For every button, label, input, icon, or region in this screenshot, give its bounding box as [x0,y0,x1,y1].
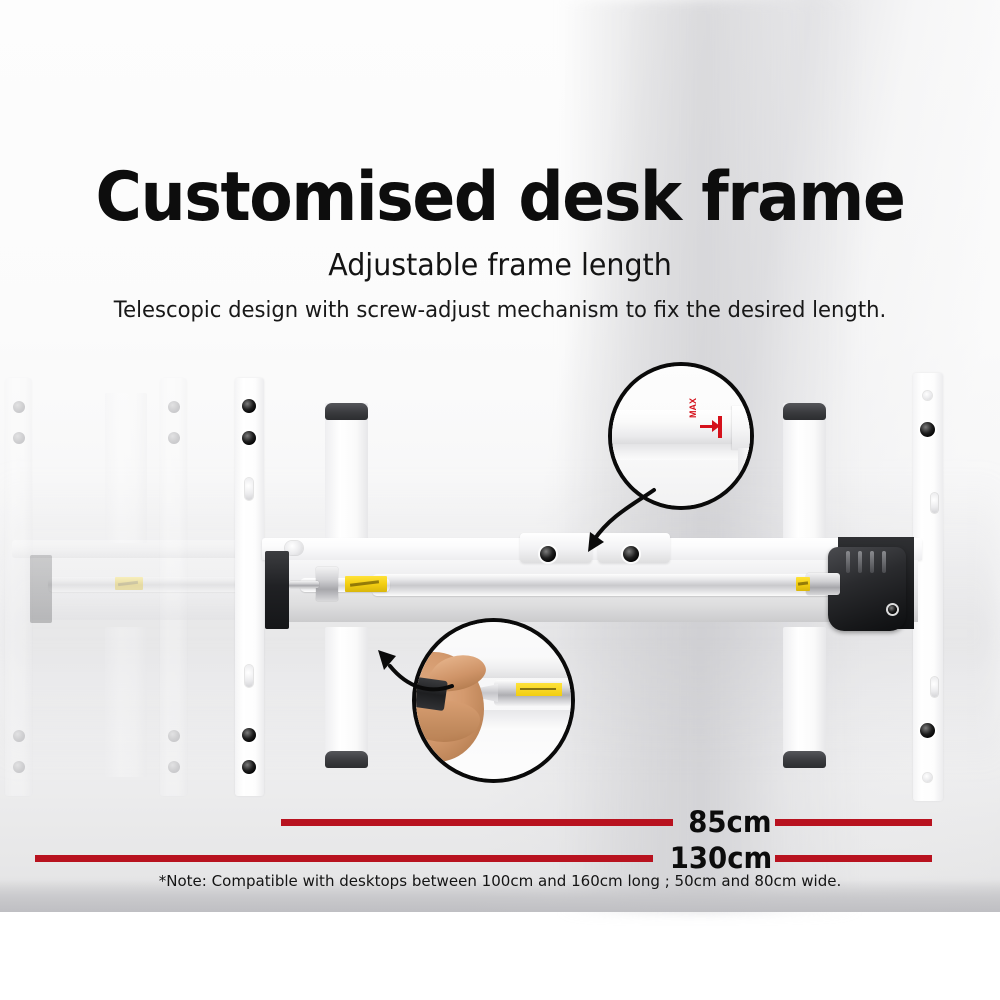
screw-icon [168,401,180,413]
screw-icon [13,401,25,413]
tube-warning-label [345,576,387,592]
foot-plate-bottom-right [783,627,826,767]
callout-arrow-bottom [352,608,462,698]
motor-warning-label [796,577,810,591]
warning-label-ghost [115,577,143,590]
max-stop-bar [718,416,722,438]
bracket-slot-right-lower [931,677,938,697]
infographic-page: Customised desk frame Adjustable frame l… [0,0,1000,1000]
foot-cap-top-right [783,403,826,420]
screw-icon [168,432,180,444]
screw-icon [242,399,256,413]
adjust-screw-shaft [289,581,319,588]
foot-cap-top-left [325,403,368,420]
dimension-line-85-right [775,819,932,826]
screw-icon [242,760,256,774]
screw-icon [13,761,25,773]
dimension-line-130-right [775,855,932,862]
dimension-line-85-left [281,819,673,826]
max-marker-group: MAX [688,414,722,440]
motor-fin [870,551,874,573]
bracket-hole-top [923,391,932,400]
dimension-line-130-left [35,855,653,862]
motor-fin [858,551,862,573]
callout-arrow-top [548,482,658,562]
foot-plate-ghost-2 [105,627,147,777]
page-tagline: Telescopic design with screw-adjust mech… [20,296,980,326]
foot-plate-ghost-1 [105,393,147,543]
max-marker-text: MAX [688,398,698,418]
screw-icon [888,605,897,614]
motor-fin [882,551,886,573]
screw-icon [168,730,180,742]
left-end-bracket [265,551,289,629]
bracket-slot-upper [245,478,253,500]
screw-icon [920,422,935,437]
screw-icon [13,432,25,444]
foot-plate-top-left [325,403,368,543]
adjust-nut [316,567,338,601]
compatibility-note: *Note: Compatible with desktops between … [15,872,985,890]
screw-icon [168,761,180,773]
bracket-hole-bottom [923,773,932,782]
screw-icon [242,431,256,445]
screw-icon [920,723,935,738]
screw-icon [13,730,25,742]
screw-icon [242,728,256,742]
bracket-slot-lower [245,665,253,687]
page-title: Customised desk frame [35,160,965,236]
dimension-label-130: 130cm [670,844,773,873]
bracket-slot-right-upper [931,493,938,513]
end-bracket-ghost [30,555,52,623]
motor-output-collar [806,573,840,595]
callout-warning-label [516,683,562,696]
telescopic-outer-tube [372,574,840,596]
dimension-label-85: 85cm [688,808,771,837]
telescopic-tube-ghost [48,577,253,592]
motor-fin [846,551,850,573]
page-subtitle: Adjustable frame length [25,248,975,284]
foot-cap-bottom-left [325,751,368,768]
foot-cap-bottom-right [783,751,826,768]
foot-plate-top-right [783,403,826,543]
